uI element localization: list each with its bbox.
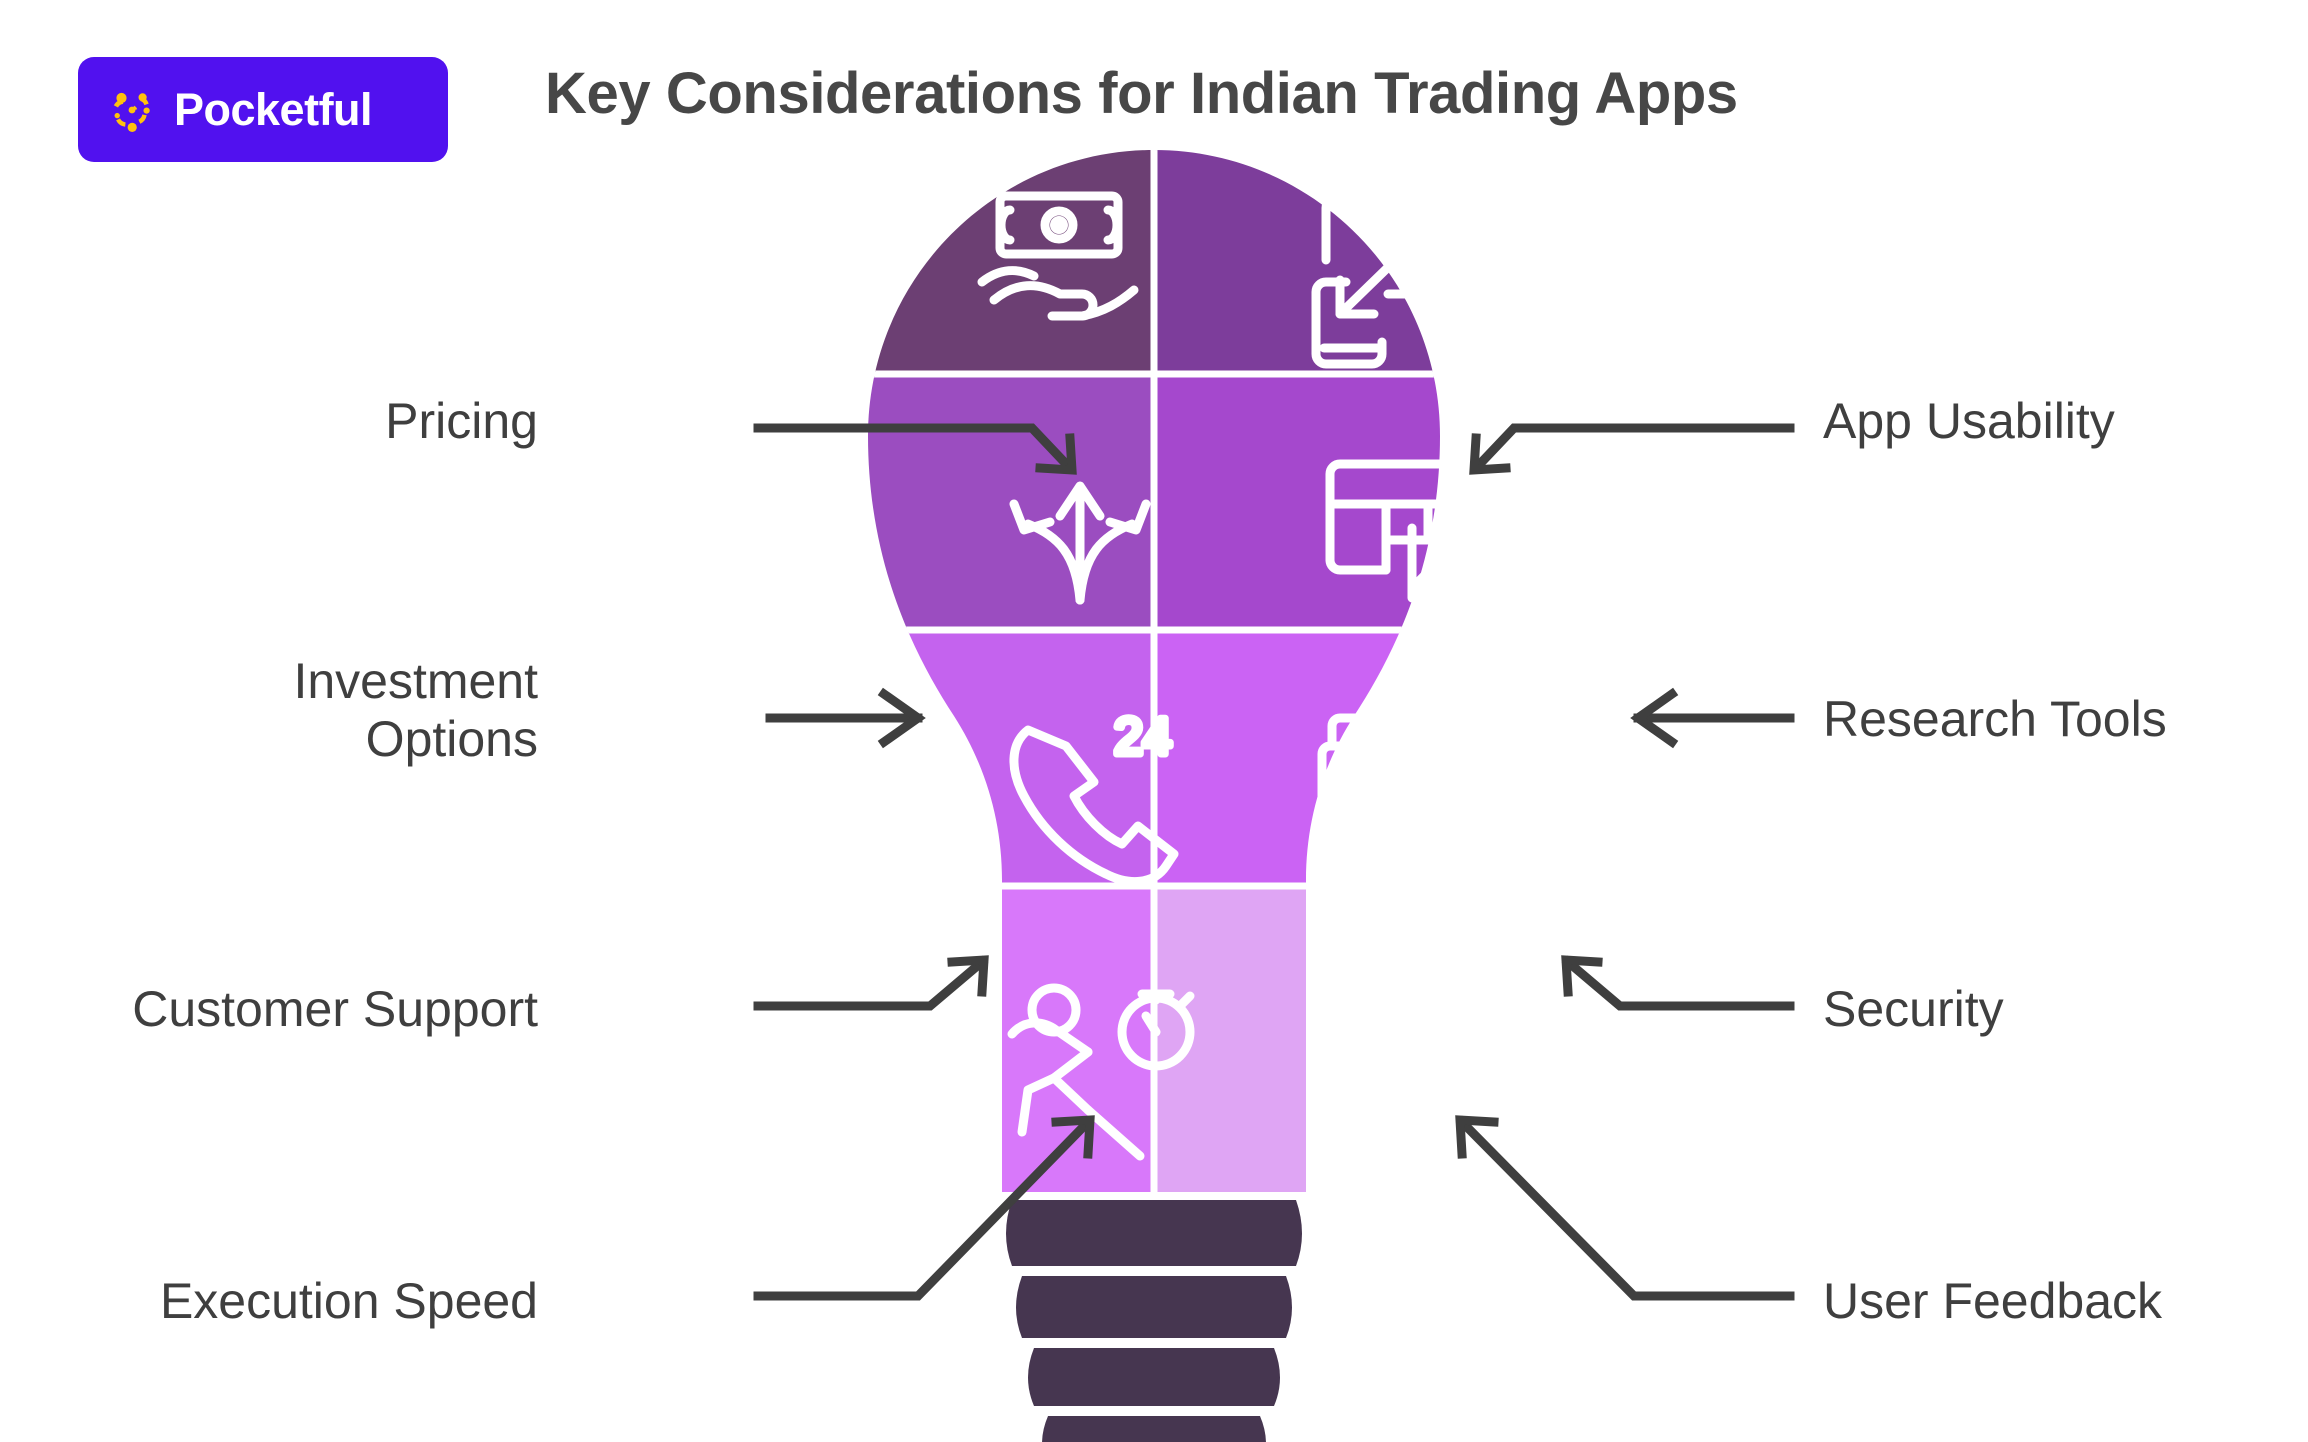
label-execution-speed: Execution Speed [160,1272,538,1330]
label-customer-support: Customer Support [132,980,538,1038]
arrow-pricing [758,428,1072,470]
arrow-user-feedback [1460,1120,1790,1296]
label-security: Security [1823,980,2004,1038]
label-pricing: Pricing [385,392,538,450]
lightbulb-diagram: 24 [0,0,2308,1442]
label-user-feedback: User Feedback [1823,1272,2162,1330]
arrow-execution-speed [758,1120,1090,1296]
label-research-tools: Research Tools [1823,690,2167,748]
arrow-customer-support [758,960,984,1006]
arrow-app-usability [1474,428,1790,470]
arrow-research-tools [1638,694,1790,742]
arrow-security [1566,960,1790,1006]
label-investment-options: Investment Options [293,652,538,768]
label-app-usability: App Usability [1823,392,2115,450]
arrow-investment-options [770,694,918,742]
